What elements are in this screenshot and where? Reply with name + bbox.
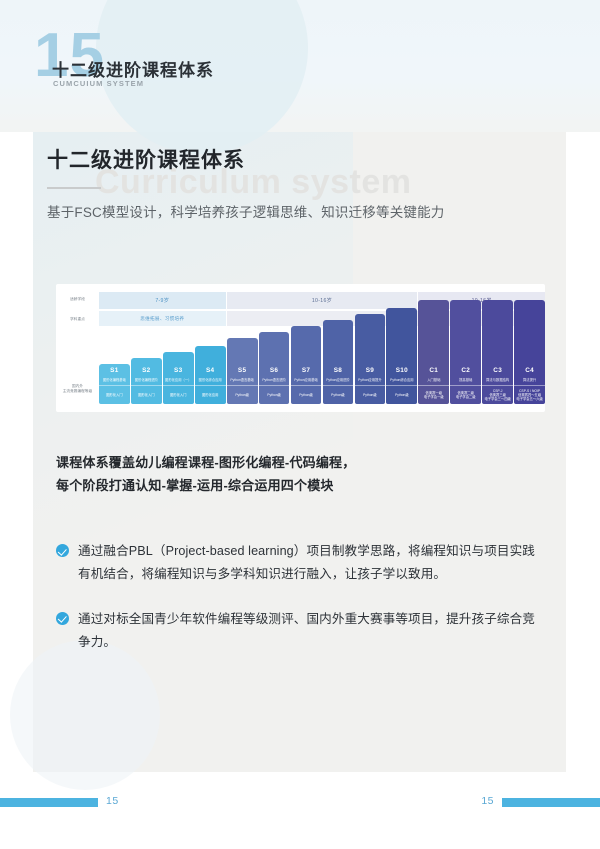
stage-column-s6[interactable]: S6Python语言进阶Python级 (259, 332, 290, 404)
stage-cap: S7Python应用基础 (291, 326, 322, 385)
stage-cap: S4图形化综合应用 (195, 346, 226, 385)
stage-cap: S8Python应用进阶 (323, 320, 354, 385)
stage-certification: 图形化入门 (131, 385, 162, 404)
stage-description: 算法提升 (521, 378, 538, 382)
stage-certification: CSP-J信奥赛三级电子学会三～四级 (482, 385, 513, 404)
footer-bar-right (502, 798, 600, 807)
age-band: 10-16岁 (227, 292, 417, 309)
stage-code: S7 (302, 368, 310, 374)
stage-cap: C1入门基础 (418, 300, 449, 385)
stage-description: Python语言进阶 (260, 378, 287, 382)
stage-description: Python应用进阶 (324, 378, 351, 382)
stage-column-s2[interactable]: S2图形化编程进阶图形化入门 (131, 358, 162, 404)
row-label-focus: 学科重点 (56, 317, 99, 322)
page-number-left: 15 (106, 795, 119, 807)
page-number-right: 15 (481, 795, 494, 807)
stage-cap: S9Python应用提升 (355, 314, 386, 385)
title-divider (47, 187, 101, 189)
stage-cap: S2图形化编程进阶 (131, 358, 162, 385)
highlight-statement: 课程体系覆盖幼儿编程课程-图形化编程-代码编程， 每个阶段打通认知-掌握-运用-… (56, 452, 545, 498)
stage-description: 提高基础 (457, 378, 474, 382)
stage-certification: CSP-S / NOIP信奥赛四～五级电子学会五～六级 (514, 385, 545, 404)
check-circle-icon (56, 612, 69, 625)
focus-band: 思维拓展、习惯培养 (99, 311, 226, 326)
header-title-cn: 十二级进阶课程体系 (52, 56, 214, 81)
list-item: 通过融合PBL（Project-based learning）项目制教学思路，将… (56, 540, 545, 586)
stage-description: 图形化综合应用 (197, 378, 224, 382)
stage-certification: 图形化入门 (163, 385, 194, 404)
stage-certification: 图形化应用 (195, 385, 226, 404)
stage-description: 图形化应用（一） (163, 378, 193, 382)
stage-code: C4 (525, 368, 534, 374)
stage-certification: Python级 (323, 385, 354, 404)
stage-code: S9 (366, 368, 374, 374)
highlight-line-2: 每个阶段打通认知-掌握-运用-综合运用四个模块 (56, 475, 545, 498)
stage-code: S1 (110, 368, 118, 374)
stage-description: 图形化编程进阶 (133, 378, 160, 382)
page-header: 15 十二级进阶课程体系 CUMCUIUM SYSTEM (0, 0, 600, 132)
title-block: Curriculum system 十二级进阶课程体系 基于FSC模型设计，科学… (47, 148, 557, 221)
stage-column-s8[interactable]: S8Python应用进阶Python级 (323, 320, 354, 404)
stage-column-s10[interactable]: S10Python综合应用Python级 (386, 308, 417, 404)
stage-certification: 信奥赛二级电子学会二级 (450, 385, 481, 404)
stage-column-s4[interactable]: S4图形化综合应用图形化应用 (195, 346, 226, 404)
stage-code: C1 (429, 368, 438, 374)
stage-cap: S5Python语言基础 (227, 338, 258, 385)
curriculum-chart: 适龄学段 学科重点 国内外主流竞赛编程等级 7-9岁10-16岁10-16岁思维… (56, 284, 545, 412)
stage-column-c3[interactable]: C3算法与数据结构CSP-J信奥赛三级电子学会三～四级 (482, 300, 513, 404)
age-band: 7-9岁 (99, 292, 226, 309)
stage-certification: Python级 (386, 385, 417, 404)
stage-column-s1[interactable]: S1图形化编程基础图形化入门 (99, 364, 130, 404)
stage-description: Python综合应用 (388, 378, 415, 382)
check-circle-icon (56, 544, 69, 557)
stage-code: S2 (142, 368, 150, 374)
stage-cap: C2提高基础 (450, 300, 481, 385)
stage-code: S10 (396, 368, 408, 374)
chart-stage-columns: 7-9岁10-16岁10-16岁思维拓展、习惯培养建立应用、原理实操S1图形化编… (99, 284, 545, 412)
page-root: 15 十二级进阶课程体系 CUMCUIUM SYSTEM Curriculum … (0, 0, 600, 849)
stage-code: S8 (334, 368, 342, 374)
stage-column-c4[interactable]: C4算法提升CSP-S / NOIP信奥赛四～五级电子学会五～六级 (514, 300, 545, 404)
page-subtitle: 基于FSC模型设计，科学培养孩子逻辑思维、知识迁移等关键能力 (47, 201, 557, 221)
page-title: 十二级进阶课程体系 (47, 148, 557, 173)
stage-certification: Python级 (291, 385, 322, 404)
stage-column-s7[interactable]: S7Python应用基础Python级 (291, 326, 322, 404)
stage-certification: Python级 (259, 385, 290, 404)
stage-description: 图形化编程基础 (101, 378, 128, 382)
stage-description: 入门基础 (425, 378, 442, 382)
stage-description: Python应用提升 (356, 378, 383, 382)
row-label-system: 国内外主流竞赛编程等级 (56, 384, 99, 394)
stage-column-c1[interactable]: C1入门基础信奥赛一级电子学会一级 (418, 300, 449, 404)
stage-cap: C4算法提升 (514, 300, 545, 385)
stage-certification: 图形化入门 (99, 385, 130, 404)
stage-description: 算法与数据结构 (484, 378, 511, 382)
stage-certification: Python级 (355, 385, 386, 404)
list-item: 通过对标全国青少年软件编程等级测评、国内外重大赛事等项目，提升孩子综合竞争力。 (56, 608, 545, 654)
stage-cap: S3图形化应用（一） (163, 352, 194, 385)
row-label-age: 适龄学段 (56, 297, 99, 302)
stage-code: S4 (206, 368, 214, 374)
list-item-text: 通过融合PBL（Project-based learning）项目制教学思路，将… (78, 540, 545, 586)
page-footer: 15 15 (0, 795, 600, 817)
stage-column-s5[interactable]: S5Python语言基础Python级 (227, 338, 258, 404)
stage-code: S3 (174, 368, 182, 374)
stage-description: Python语言基础 (228, 378, 255, 382)
stage-column-s9[interactable]: S9Python应用提升Python级 (355, 314, 386, 404)
stage-cap: S6Python语言进阶 (259, 332, 290, 385)
stage-code: S6 (270, 368, 278, 374)
stage-code: S5 (238, 368, 246, 374)
list-item-text: 通过对标全国青少年软件编程等级测评、国内外重大赛事等项目，提升孩子综合竞争力。 (78, 608, 545, 654)
stage-certification: Python级 (227, 385, 258, 404)
stage-code: C2 (461, 368, 470, 374)
stage-cap: C3算法与数据结构 (482, 300, 513, 385)
footer-bar-left (0, 798, 98, 807)
stage-column-c2[interactable]: C2提高基础信奥赛二级电子学会二级 (450, 300, 481, 404)
stage-description: Python应用基础 (292, 378, 319, 382)
stage-column-s3[interactable]: S3图形化应用（一）图形化入门 (163, 352, 194, 404)
chart-row-labels: 适龄学段 学科重点 国内外主流竞赛编程等级 (56, 284, 99, 412)
stage-certification: 信奥赛一级电子学会一级 (418, 385, 449, 404)
stage-cap: S10Python综合应用 (386, 308, 417, 385)
stage-code: C3 (493, 368, 502, 374)
bullet-list: 通过融合PBL（Project-based learning）项目制教学思路，将… (56, 540, 545, 676)
header-title-en: CUMCUIUM SYSTEM (53, 79, 144, 88)
stage-cap: S1图形化编程基础 (99, 364, 130, 385)
highlight-line-1: 课程体系覆盖幼儿编程课程-图形化编程-代码编程， (56, 452, 545, 475)
